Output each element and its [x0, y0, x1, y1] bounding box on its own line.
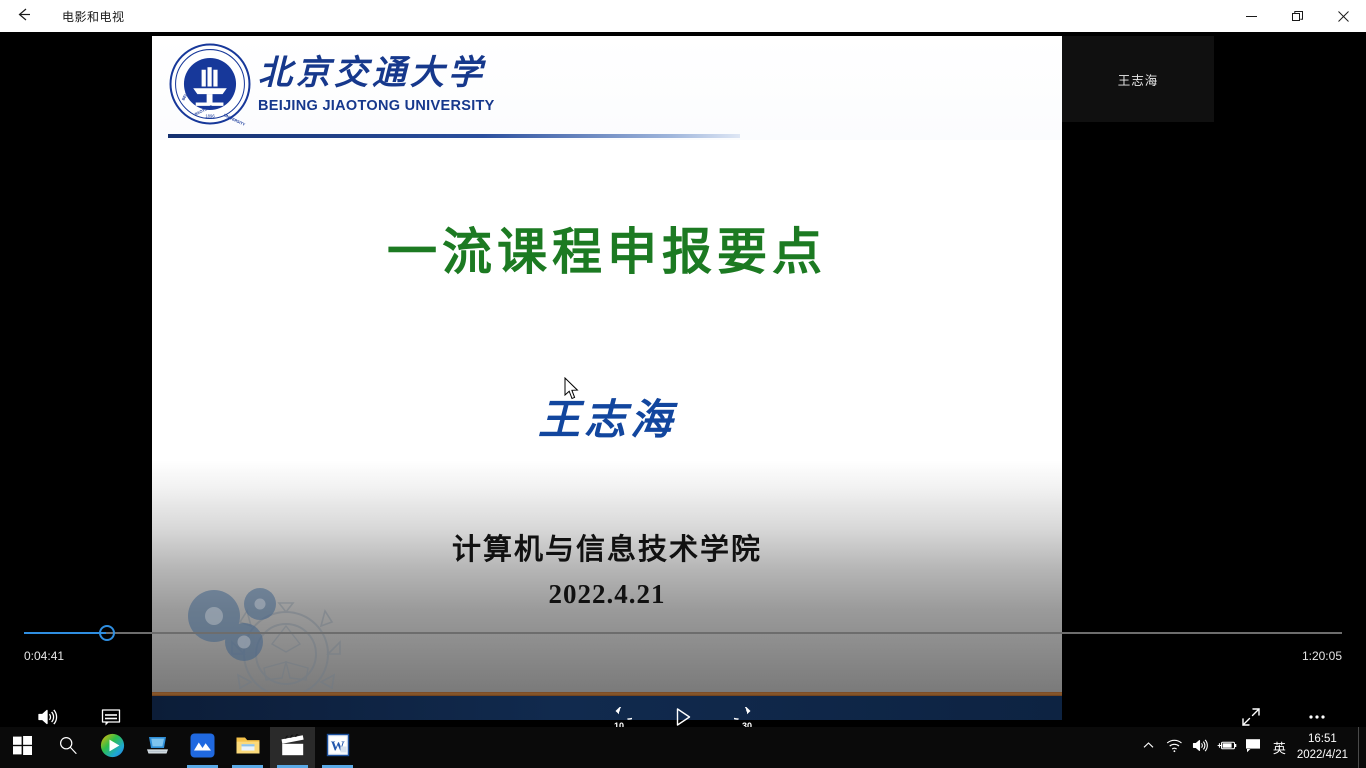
header-divider: [168, 134, 740, 138]
wifi-icon: [1166, 738, 1183, 758]
minimize-icon: [1246, 11, 1257, 22]
restore-button[interactable]: [1274, 0, 1320, 32]
word-icon: W: [326, 733, 350, 762]
slide-presenter-name: 王志海: [152, 386, 1062, 447]
participant-name: 王志海: [1118, 70, 1159, 89]
minimize-button[interactable]: [1228, 0, 1274, 32]
close-button[interactable]: [1320, 0, 1366, 32]
university-name-en: BEIJING JIAOTONG UNIVERSITY: [258, 98, 495, 114]
university-logo: 1896 BEIJING JIAOTONG UNIVERSITY 北京交通大学 …: [168, 42, 495, 126]
taskbar-app-remote-desktop[interactable]: [135, 727, 180, 768]
start-button[interactable]: [0, 727, 45, 768]
close-icon: [1338, 11, 1349, 22]
university-seal-icon: 1896 BEIJING JIAOTONG UNIVERSITY: [168, 42, 252, 126]
university-name-cn: 北京交通大学: [258, 54, 495, 93]
taskbar-app-blue[interactable]: [180, 727, 225, 768]
media-player-icon: [100, 733, 125, 763]
show-hidden-icons-button[interactable]: [1136, 727, 1162, 768]
taskbar-app-movies-tv[interactable]: [270, 727, 315, 768]
battery-button[interactable]: [1214, 727, 1240, 768]
slide-video: 1896 BEIJING JIAOTONG UNIVERSITY 北京交通大学 …: [152, 36, 1062, 720]
mountain-app-icon: [190, 733, 215, 763]
slide-affiliation: 计算机与信息技术学院: [152, 526, 1062, 568]
system-tray: 英 16:51 2022/4/21: [1136, 727, 1366, 768]
seek-bar[interactable]: [0, 632, 1366, 646]
taskbar: W: [0, 727, 1366, 768]
back-arrow-icon: [14, 5, 33, 27]
tray-volume-icon: [1192, 738, 1209, 758]
taskbar-app-word[interactable]: W: [315, 727, 360, 768]
video-stage[interactable]: 1896 BEIJING JIAOTONG UNIVERSITY 北京交通大学 …: [0, 32, 1366, 727]
restore-icon: [1292, 11, 1303, 22]
search-icon: [58, 735, 78, 760]
more-options-icon: [1306, 706, 1328, 728]
app-title: 电影和电视: [62, 8, 125, 25]
mouse-cursor-icon: [564, 377, 580, 401]
play-icon: [672, 706, 694, 728]
window-controls: [1228, 0, 1366, 32]
seek-track[interactable]: [24, 632, 1342, 634]
clock[interactable]: 16:51 2022/4/21: [1293, 727, 1358, 768]
battery-icon: [1217, 739, 1237, 757]
network-button[interactable]: [1162, 727, 1188, 768]
clock-time: 16:51: [1297, 732, 1348, 748]
svg-text:1896: 1896: [205, 114, 215, 119]
file-explorer-icon: [235, 734, 261, 761]
clock-date: 2022/4/21: [1297, 748, 1348, 764]
seek-thumb[interactable]: [99, 625, 115, 641]
university-name-block: 北京交通大学 BEIJING JIAOTONG UNIVERSITY: [258, 54, 495, 114]
slide-header: 1896 BEIJING JIAOTONG UNIVERSITY 北京交通大学 …: [152, 36, 1062, 140]
show-hidden-icons-icon: [1142, 739, 1155, 757]
ime-indicator[interactable]: 英: [1266, 727, 1293, 768]
participant-tile: 王志海: [1062, 36, 1214, 122]
slide-title: 一流课程申报要点: [152, 212, 1062, 284]
action-center-button[interactable]: [1240, 727, 1266, 768]
current-time-label: 0:04:41: [24, 649, 64, 663]
action-center-icon: [1245, 738, 1261, 758]
taskbar-app-file-explorer[interactable]: [225, 727, 270, 768]
clapperboard-icon: [280, 734, 305, 761]
slide-date: 2022.4.21: [152, 579, 1062, 610]
show-desktop-button[interactable]: [1358, 727, 1364, 768]
tray-volume-button[interactable]: [1188, 727, 1214, 768]
title-bar: 电影和电视: [0, 0, 1366, 32]
back-button[interactable]: [0, 0, 46, 32]
total-time-label: 1:20:05: [1302, 649, 1342, 663]
seek-progress: [24, 632, 106, 634]
remote-desktop-icon: [145, 734, 170, 761]
fullscreen-icon: [1240, 706, 1262, 728]
search-button[interactable]: [45, 727, 90, 768]
windows-logo-icon: [13, 736, 32, 760]
taskbar-app-media-player[interactable]: [90, 727, 135, 768]
